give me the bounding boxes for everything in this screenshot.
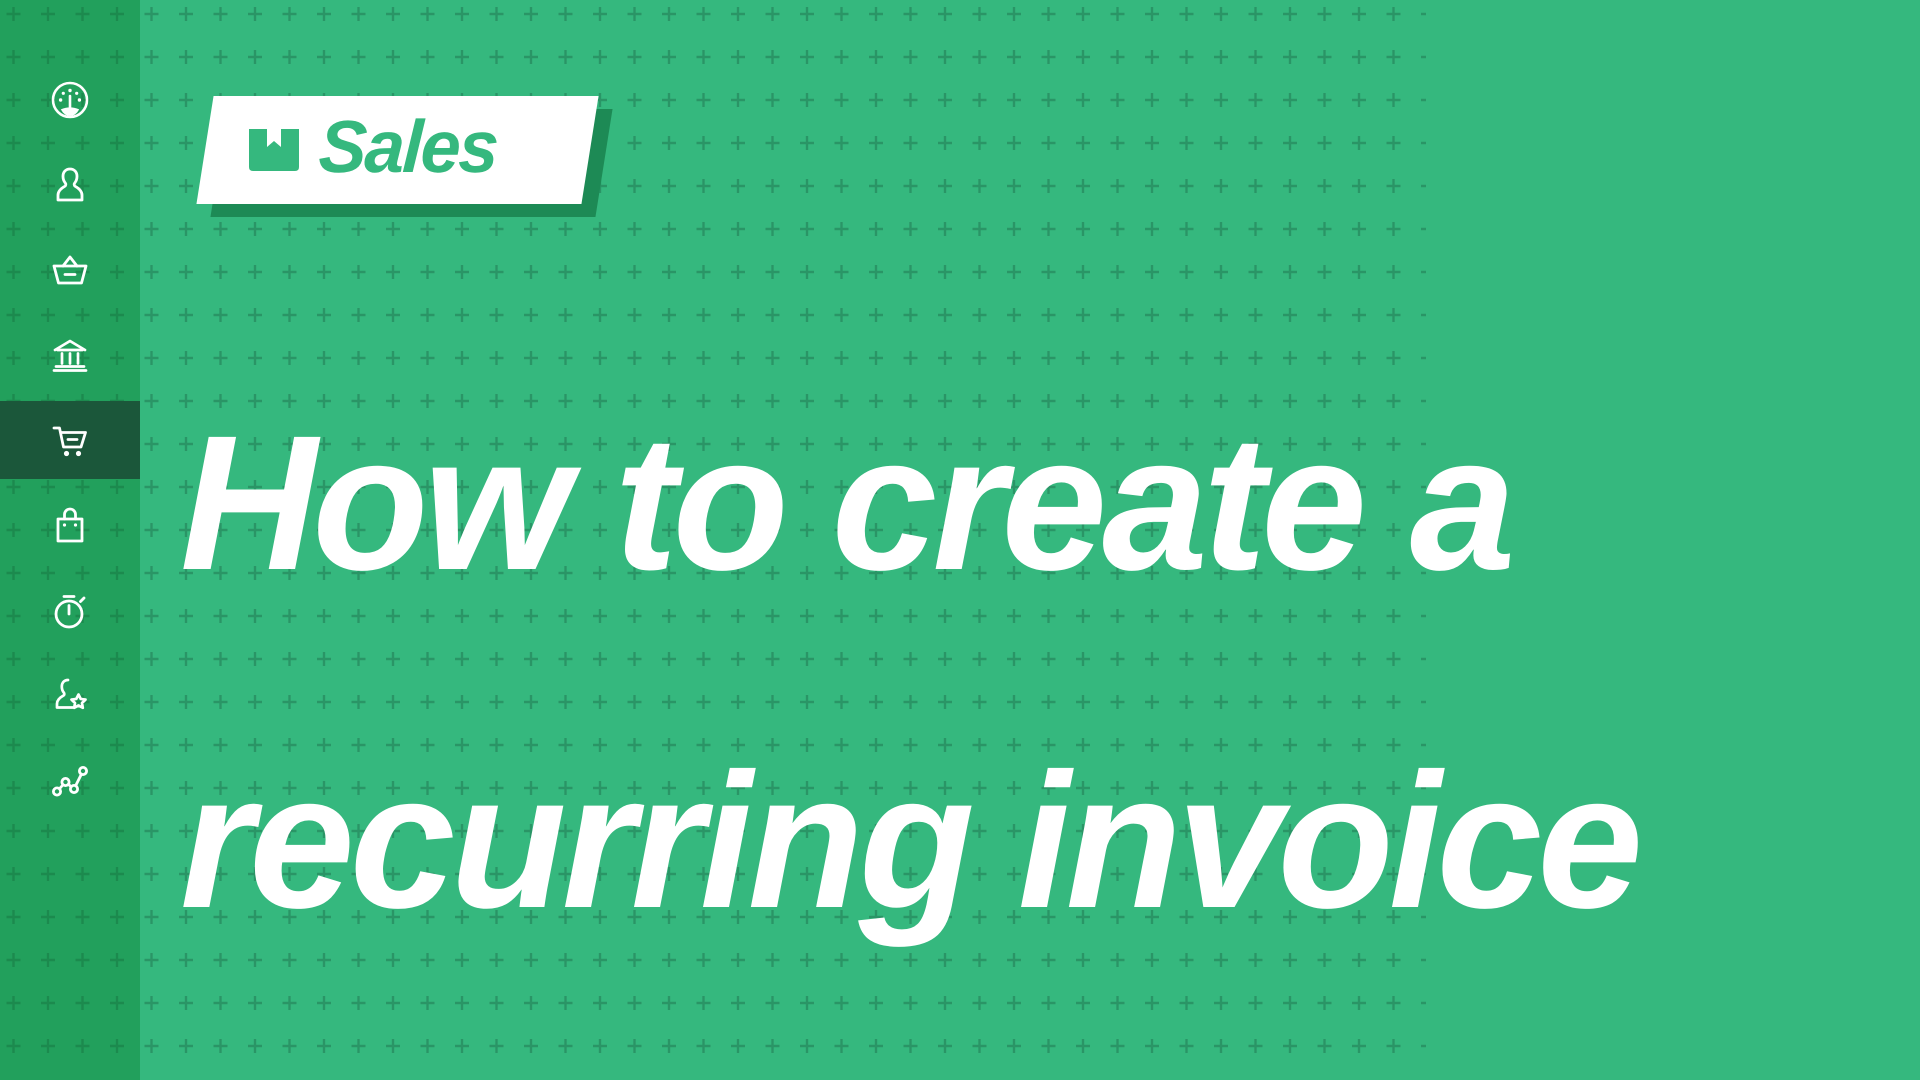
page-title-line-1: How to create a [180, 419, 1638, 588]
gauge-icon [47, 77, 93, 123]
sidebar-item-products[interactable] [0, 486, 140, 564]
sidebar-item-timesheets[interactable] [0, 571, 140, 649]
person-star-icon [47, 672, 93, 718]
basket-icon [47, 247, 93, 293]
sidebar [0, 0, 140, 1080]
sidebar-item-employees[interactable] [0, 656, 140, 734]
sidebar-item-sales[interactable] [0, 231, 140, 309]
shopping-cart-icon [47, 417, 93, 463]
sidebar-item-contacts[interactable] [0, 146, 140, 224]
sidebar-item-banking[interactable] [0, 316, 140, 394]
bank-icon [47, 332, 93, 378]
page-title: How to create a recurring invoice [180, 250, 1638, 1080]
sales-badge: Sales [205, 96, 593, 211]
person-icon [47, 162, 93, 208]
sidebar-item-reports[interactable] [0, 741, 140, 819]
badge-label: Sales [317, 110, 499, 184]
line-chart-icon [47, 757, 93, 803]
sidebar-item-purchases[interactable] [0, 401, 140, 479]
package-box-icon [245, 121, 303, 179]
shopping-bag-icon [47, 502, 93, 548]
sidebar-item-dashboard[interactable] [0, 61, 140, 139]
stopwatch-icon [47, 587, 93, 633]
page-title-line-2: recurring invoice [180, 757, 1638, 926]
